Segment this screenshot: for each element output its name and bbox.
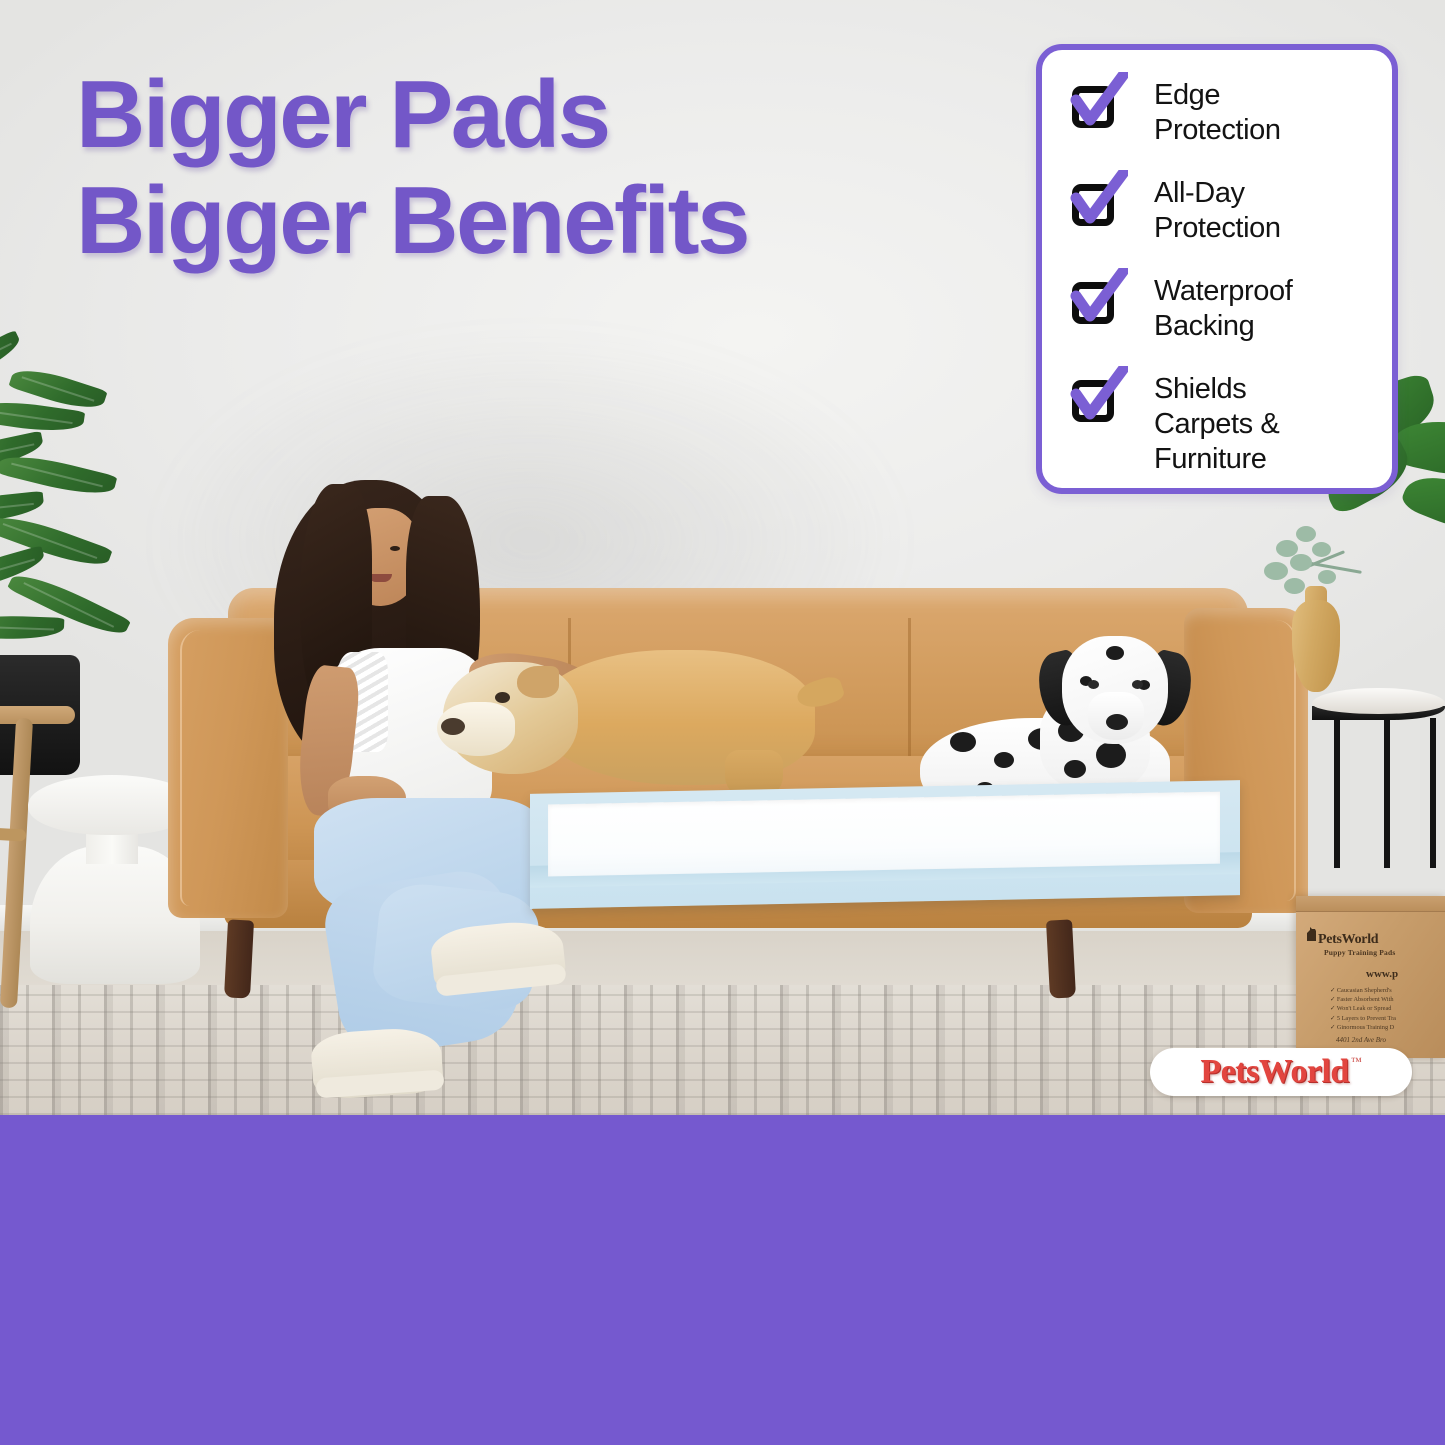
feature-checklist-card: EdgeProtectionAll-DayProtectionWaterproo… [1036,44,1398,494]
feature-label: All-DayProtection [1128,174,1281,246]
side-table-leg [1384,718,1390,868]
box-url-text: www.p [1366,968,1398,980]
wooden-chair-rung [0,826,26,841]
box-flap [1296,896,1445,912]
feature-row: ShieldsCarpets &Furniture [1066,370,1376,477]
sofa-leg [1046,919,1076,998]
feature-label: ShieldsCarpets &Furniture [1128,370,1279,477]
checkbox-checked-icon [1066,176,1128,232]
bulldog-nose [441,718,465,735]
dog-icon [1304,926,1318,942]
box-bullet: ✓ 5 Layers to Prevent Tra [1330,1014,1445,1023]
dalmatian-eye [1088,680,1099,689]
bulldog-eye [495,692,510,703]
box-bullet: ✓ Caucasian Shepherd's [1330,986,1445,995]
feature-row: WaterproofBacking [1066,272,1376,344]
box-bullet: ✓ Ginormous Training D [1330,1023,1445,1032]
box-bullet-list: ✓ Caucasian Shepherd's✓ Faster Absorbent… [1330,986,1445,1032]
box-subtitle-text: Puppy Training Pads [1324,948,1395,957]
product-marketing-image: PetsWorld Puppy Training Pads www.p ✓ Ca… [0,0,1445,1445]
checkbox-checked-icon [1066,372,1128,428]
feature-row: All-DayProtection [1066,174,1376,246]
eucalyptus-vase [1292,600,1340,692]
box-brand-text: PetsWorld [1318,932,1442,948]
headline-line-1: Bigger Pads [76,61,609,168]
bottom-banner: More Coverage Fewer Replacements [0,1115,1445,1445]
feature-label: EdgeProtection [1128,76,1281,148]
bulldog-ear [517,666,559,698]
page-title: Bigger Pads Bigger Benefits [76,62,936,274]
side-table-leg [1334,718,1340,868]
box-bullet: ✓ Won't Leak or Spread [1330,1004,1445,1013]
checkbox-checked-icon [1066,274,1128,330]
dalmatian-nose [1106,714,1128,730]
side-table-top [1312,688,1445,714]
headline-line-2: Bigger Benefits [76,168,936,274]
wooden-chair-seat [0,706,75,724]
training-pad [530,780,1240,909]
feature-row: EdgeProtection [1066,76,1376,148]
box-bullet: ✓ Faster Absorbent With [1330,995,1445,1004]
petsworld-logo: PetsWorld ™ [1150,1048,1412,1096]
product-box: PetsWorld Puppy Training Pads www.p ✓ Ca… [1296,896,1445,1058]
checkbox-checked-icon [1066,78,1128,134]
side-table-leg [1430,718,1436,868]
training-pad-surface [548,792,1220,877]
dalmatian-eye [1132,680,1143,689]
box-address-text: 4401 2nd Ave Bro [1336,1036,1386,1044]
feature-label: WaterproofBacking [1128,272,1292,344]
logo-text: PetsWorld [1200,1053,1348,1091]
trademark-symbol: ™ [1351,1056,1362,1068]
